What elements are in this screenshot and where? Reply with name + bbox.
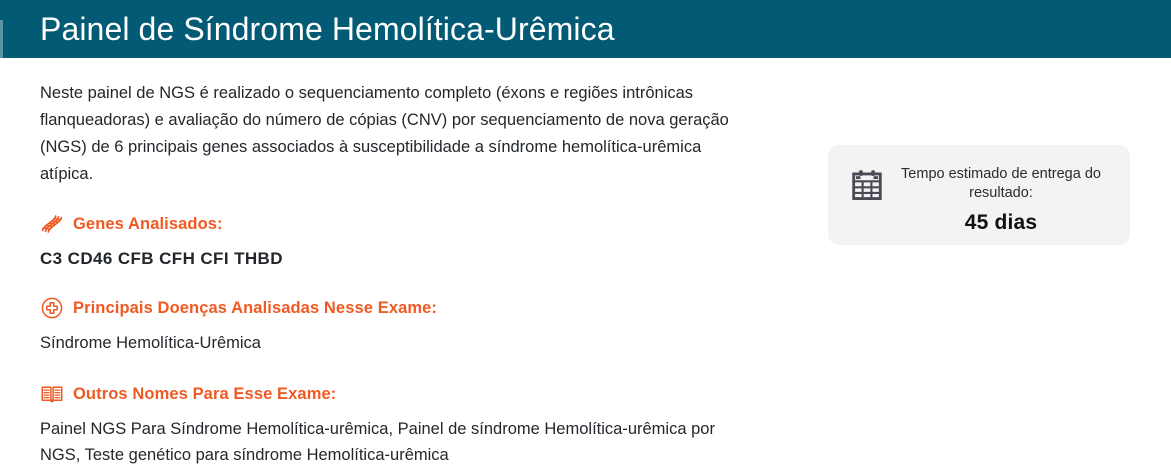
header-left-accent-strip [0, 20, 3, 58]
page-body: Neste painel de NGS é realizado o sequen… [0, 58, 1171, 456]
section-title-outros-nomes: Outros Nomes Para Esse Exame: [73, 385, 336, 404]
delivery-label: Tempo estimado de entrega do resultado: [890, 165, 1112, 203]
section-title-doencas: Principais Doenças Analisadas Nesse Exam… [73, 299, 437, 318]
calendar-icon [850, 168, 884, 202]
delivery-text-block: Tempo estimado de entrega do resultado: … [884, 165, 1112, 235]
section-genes-analisados: Genes Analisados: C3 CD46 CFB CFH CFI TH… [40, 212, 750, 272]
intro-paragraph: Neste painel de NGS é realizado o sequen… [40, 80, 740, 188]
medical-cross-circle-icon [40, 296, 64, 320]
other-names-list: Painel NGS Para Síndrome Hemolítica-urêm… [40, 416, 750, 468]
delivery-card-content: Tempo estimado de entrega do resultado: … [828, 145, 1130, 245]
delivery-time-card: Tempo estimado de entrega do resultado: … [828, 145, 1130, 245]
section-header: Genes Analisados: [40, 212, 750, 236]
diseases-list: Síndrome Hemolítica-Urêmica [40, 330, 750, 356]
open-book-icon [40, 382, 64, 406]
page-header: Painel de Síndrome Hemolítica-Urêmica [0, 0, 1171, 58]
section-header: Outros Nomes Para Esse Exame: [40, 382, 750, 406]
content-column: Neste painel de NGS é realizado o sequen… [40, 80, 750, 468]
page-title: Painel de Síndrome Hemolítica-Urêmica [40, 0, 615, 58]
section-outros-nomes: Outros Nomes Para Esse Exame: Painel NGS… [40, 382, 750, 468]
section-principais-doencas: Principais Doenças Analisadas Nesse Exam… [40, 296, 750, 356]
section-title-genes: Genes Analisados: [73, 215, 223, 234]
dna-icon [40, 212, 64, 236]
delivery-value: 45 dias [890, 211, 1112, 235]
exam-panel-page: Painel de Síndrome Hemolítica-Urêmica Ne… [0, 0, 1171, 456]
genes-list: C3 CD46 CFB CFH CFI THBD [40, 246, 750, 272]
section-header: Principais Doenças Analisadas Nesse Exam… [40, 296, 750, 320]
